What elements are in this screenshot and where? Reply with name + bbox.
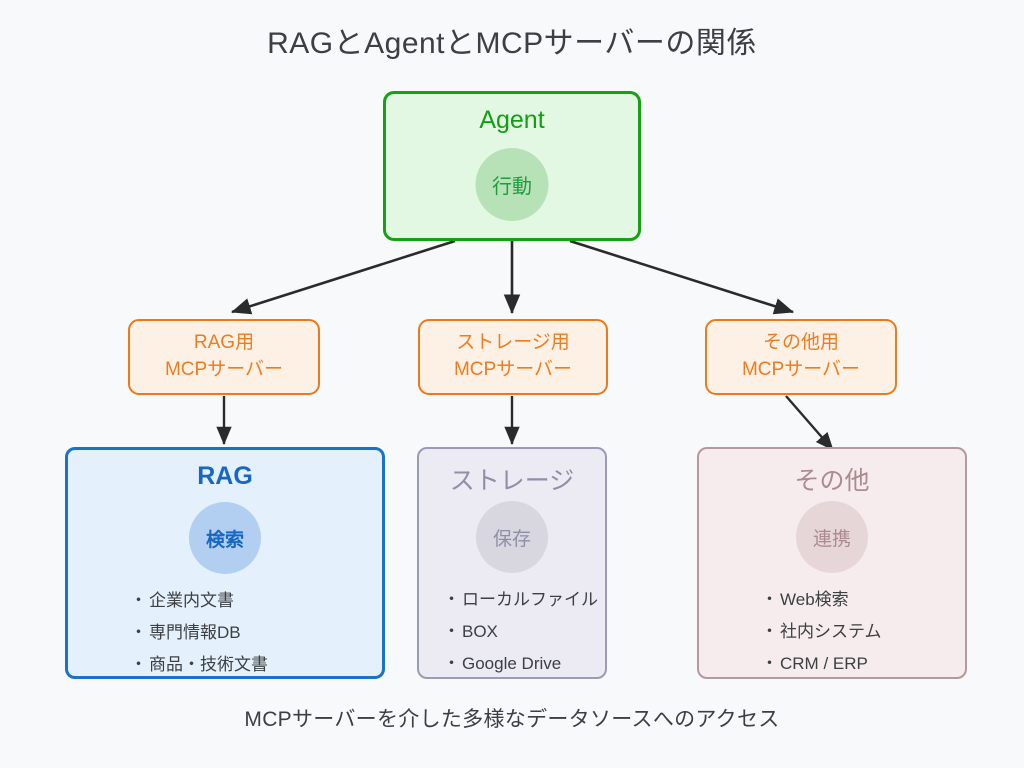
list-item: ・社内システム [761,623,882,640]
source-node-other[interactable]: その他 連携 ・Web検索 ・社内システム ・CRM / ERP [697,447,967,679]
mcp-server-storage-line1: ストレージ用 [456,330,570,357]
list-item-label: Google Drive [462,654,561,673]
list-item-label: 商品・技術文書 [149,655,268,674]
source-node-rag[interactable]: RAG 検索 ・企業内文書 ・専門情報DB ・商品・技術文書 [65,447,385,679]
mcp-server-rag[interactable]: RAG用 MCPサーバー [128,319,320,395]
bullet-icon: ・ [443,622,460,641]
source-storage-badge: 保存 [476,501,548,573]
list-item-label: BOX [462,622,498,641]
source-other-badge: 連携 [796,501,868,573]
source-rag-title: RAG [68,462,382,491]
list-item-label: 社内システム [780,622,882,641]
list-item: ・Web検索 [761,591,849,608]
bullet-icon: ・ [761,590,778,609]
diagram-canvas: RAGとAgentとMCPサーバーの関係 Agent 行動 RAG用 MCPサー… [0,0,1024,768]
source-rag-badge: 検索 [189,502,261,574]
mcp-server-rag-line2: MCPサーバー [165,357,283,384]
source-rag-list: ・企業内文書 ・専門情報DB ・商品・技術文書 [68,592,444,688]
mcp-server-other[interactable]: その他用 MCPサーバー [705,319,897,395]
bullet-icon: ・ [130,623,147,642]
list-item-label: ローカルファイル [462,590,598,609]
mcp-server-storage-line2: MCPサーバー [454,357,572,384]
agent-badge: 行動 [476,148,549,221]
mcp-server-other-line1: その他用 [763,330,839,357]
list-item-label: Web検索 [780,590,849,609]
source-other-list: ・Web検索 ・社内システム ・CRM / ERP [699,591,1024,687]
bullet-icon: ・ [761,654,778,673]
bullet-icon: ・ [443,654,460,673]
page-caption: MCPサーバーを介した多様なデータソースへのアクセス [0,703,1024,733]
source-node-storage[interactable]: ストレージ 保存 ・ローカルファイル ・BOX ・Google Drive [417,447,607,679]
page-title: RAGとAgentとMCPサーバーの関係 [0,18,1024,62]
mcp-server-rag-line1: RAG用 [194,330,254,357]
list-item: ・BOX [443,623,498,640]
list-item: ・Google Drive [443,655,561,672]
source-storage-list: ・ローカルファイル ・BOX ・Google Drive [419,591,629,687]
agent-node[interactable]: Agent 行動 [383,91,641,241]
source-other-title: その他 [699,461,965,497]
list-item: ・ローカルファイル [443,591,598,608]
agent-title: Agent [386,106,638,135]
list-item: ・商品・技術文書 [130,656,268,673]
source-storage-title: ストレージ [419,461,605,497]
arrow-agent-to-other-mcp [570,241,793,312]
bullet-icon: ・ [130,655,147,674]
arrow-agent-to-rag-mcp [232,241,455,312]
list-item-label: 企業内文書 [149,591,234,610]
mcp-server-storage[interactable]: ストレージ用 MCPサーバー [418,319,608,395]
list-item: ・専門情報DB [130,624,241,641]
list-item-label: 専門情報DB [149,623,241,642]
mcp-server-other-line2: MCPサーバー [742,357,860,384]
arrow-other-mcp-to-other [786,396,833,450]
bullet-icon: ・ [761,622,778,641]
list-item: ・企業内文書 [130,592,234,609]
bullet-icon: ・ [130,591,147,610]
list-item-label: CRM / ERP [780,654,868,673]
bullet-icon: ・ [443,590,460,609]
list-item: ・CRM / ERP [761,655,868,672]
